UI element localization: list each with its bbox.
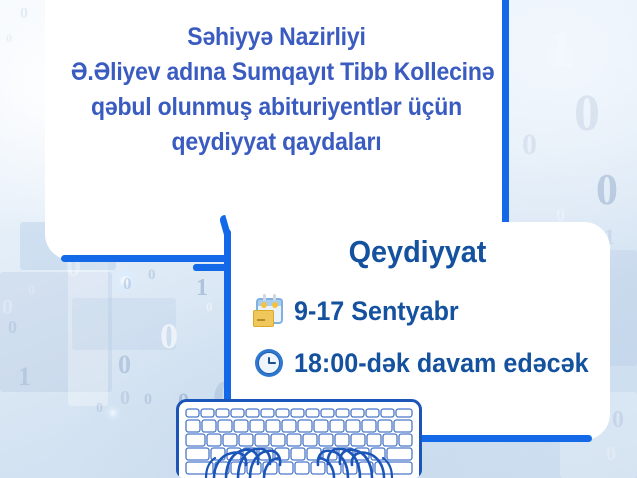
- background-digit: 0: [120, 388, 130, 408]
- bg-panel-2: [68, 256, 108, 406]
- keyboard-typing-hands-illustration: [176, 399, 422, 478]
- background-digit: 0: [206, 300, 213, 313]
- bg-panel-1: [0, 272, 112, 392]
- title-line-1: Səhiyyə Nazirliyi: [71, 20, 482, 55]
- registration-time-text: 18:00-dək davam edəcək: [294, 348, 589, 379]
- bg-glow-left: [112, 268, 138, 294]
- background-digit: 0: [6, 32, 12, 44]
- background-digit: 0: [20, 6, 28, 22]
- clock-icon: [252, 346, 286, 380]
- bg-glow-bottom: [104, 404, 122, 422]
- background-digit: 0: [123, 275, 132, 292]
- background-digit: 1: [196, 276, 208, 300]
- title-line-3: qəbul olunmuş abituriyentlər üçün: [71, 90, 482, 125]
- background-digit: 0: [144, 392, 152, 408]
- background-digit: 0: [522, 130, 537, 160]
- background-digit: 0: [28, 284, 35, 298]
- background-digit: 1: [548, 22, 575, 76]
- calendar-icon: [252, 294, 286, 328]
- background-digit: 0: [606, 444, 616, 464]
- background-digit: 0: [574, 88, 600, 140]
- background-digit: 0: [96, 402, 103, 416]
- title-line-2: Ə.Əliyev adına Sumqayıt Tibb Kollecinə: [71, 55, 482, 90]
- title-line-4: qeydiyyat qaydaları: [71, 125, 482, 160]
- poster-canvas: 0100000000010100000101000100000001 Səhiy…: [0, 0, 637, 478]
- background-digit: 0: [148, 268, 156, 283]
- background-digit: 0: [612, 408, 624, 432]
- registration-heading: Qeydiyyat: [238, 232, 596, 272]
- poster-title: Səhiyyə Nazirliyi Ə.Əliyev adına Sumqayı…: [45, 20, 508, 160]
- background-digit: 0: [160, 318, 178, 354]
- bg-panel-3: [72, 298, 176, 350]
- registration-time-row: 18:00-dək davam edəcək: [252, 346, 611, 380]
- background-digit: 1: [18, 364, 31, 390]
- registration-date-text: 9-17 Sentyabr: [294, 296, 459, 327]
- background-digit: 0: [2, 296, 13, 318]
- background-digit: 0: [596, 168, 618, 212]
- background-digit: 0: [118, 352, 131, 378]
- background-digit: 0: [8, 318, 17, 336]
- registration-date-row: 9-17 Sentyabr: [252, 294, 471, 328]
